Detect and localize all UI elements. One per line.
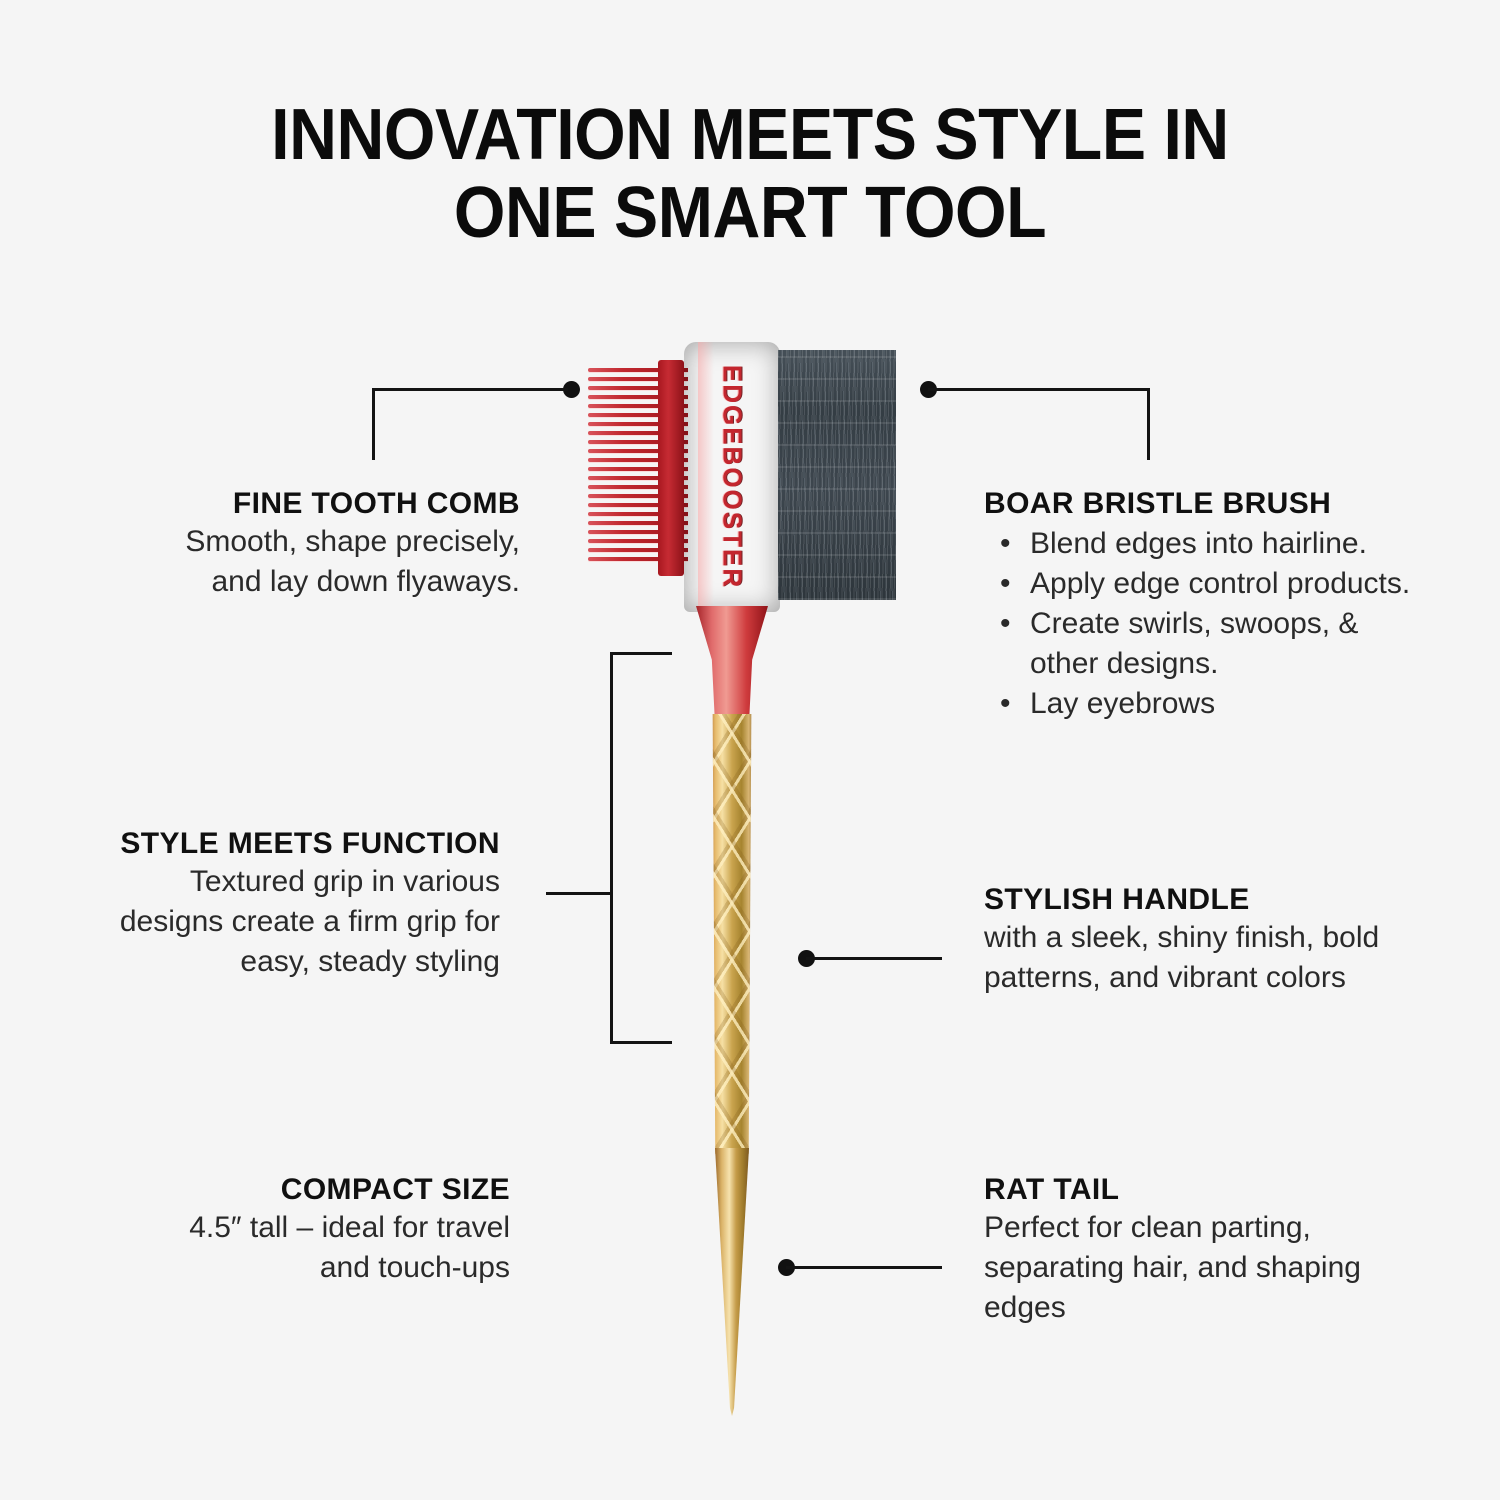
- handle-neck: [696, 606, 768, 718]
- comb-spine: [658, 360, 684, 576]
- list-item: Create swirls, swoops, & other designs.: [984, 604, 1414, 684]
- infographic-canvas: INNOVATION MEETS STYLE IN ONE SMART TOOL: [0, 0, 1500, 1500]
- boar-bristles: [778, 350, 896, 600]
- product-image: EDGEBOOSTER: [560, 330, 950, 1420]
- rat-tail-tip: [715, 1148, 749, 1416]
- title-line-2: ONE SMART TOOL: [60, 174, 1440, 252]
- title-line-1: INNOVATION MEETS STYLE IN: [60, 96, 1440, 174]
- callout-boar-bristle-brush: BOAR BRISTLE BRUSH Blend edges into hair…: [984, 486, 1414, 724]
- callout-heading-boar-bristle-brush: BOAR BRISTLE BRUSH: [984, 486, 1414, 522]
- list-item: Apply edge control products.: [984, 564, 1414, 604]
- callout-body-stylish-handle: with a sleek, shiny finish, bold pattern…: [984, 918, 1384, 998]
- callout-heading-compact-size: COMPACT SIZE: [170, 1172, 510, 1208]
- list-item: Blend edges into hairline.: [984, 524, 1414, 564]
- callout-body-rat-tail: Perfect for clean parting, separating ha…: [984, 1208, 1364, 1328]
- brush-body: EDGEBOOSTER: [684, 342, 780, 612]
- brush-head: EDGEBOOSTER: [560, 330, 950, 600]
- callout-stylish-handle: STYLISH HANDLE with a sleek, shiny finis…: [984, 882, 1384, 998]
- callout-rat-tail: RAT TAIL Perfect for clean parting, sepa…: [984, 1172, 1364, 1328]
- callout-body-style-meets-function: Textured grip in various designs create …: [95, 862, 500, 982]
- callout-heading-fine-tooth-comb: FINE TOOTH COMB: [150, 486, 520, 522]
- callout-heading-style-meets-function: STYLE MEETS FUNCTION: [95, 826, 500, 862]
- list-item: Lay eyebrows: [984, 684, 1414, 724]
- callout-heading-stylish-handle: STYLISH HANDLE: [984, 882, 1384, 918]
- handle-shaft: [710, 714, 754, 1154]
- callout-body-fine-tooth-comb: Smooth, shape precisely, and lay down fl…: [150, 522, 520, 602]
- callout-heading-rat-tail: RAT TAIL: [984, 1172, 1364, 1208]
- brand-logo-text: EDGEBOOSTER: [717, 365, 748, 589]
- callout-compact-size: COMPACT SIZE 4.5″ tall – ideal for trave…: [170, 1172, 510, 1288]
- callout-style-meets-function: STYLE MEETS FUNCTION Textured grip in va…: [95, 826, 500, 982]
- page-title: INNOVATION MEETS STYLE IN ONE SMART TOOL: [0, 96, 1500, 252]
- callout-fine-tooth-comb: FINE TOOTH COMB Smooth, shape precisely,…: [150, 486, 520, 602]
- callout-body-compact-size: 4.5″ tall – ideal for travel and touch-u…: [170, 1208, 510, 1288]
- boar-bristle-bullet-list: Blend edges into hairline. Apply edge co…: [984, 524, 1414, 724]
- lattice-pattern: [710, 714, 754, 1154]
